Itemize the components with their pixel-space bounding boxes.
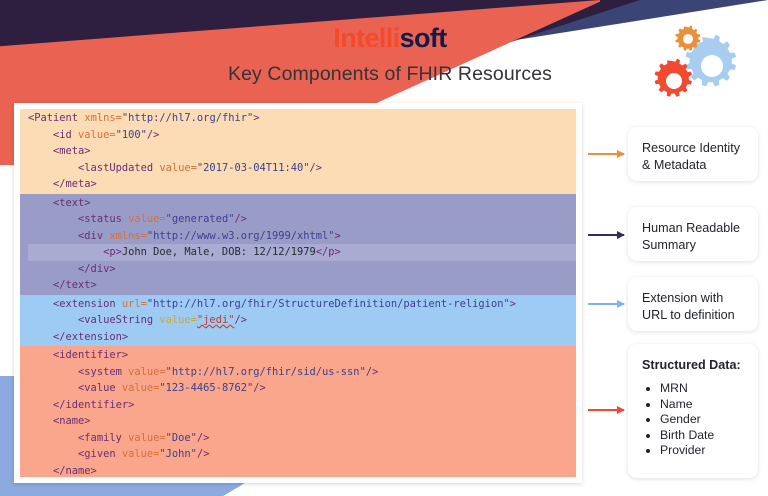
gear-medium-icon (655, 59, 692, 97)
code-line: <lastUpdated value="2017-03-04T11:40"/> (28, 160, 576, 177)
code-line: </div> (28, 261, 576, 278)
arrow-to-resource-identity (588, 153, 624, 155)
code-line: <extension url="http://hl7.org/fhir/Stru… (28, 296, 576, 313)
callout-resource-identity[interactable]: Resource Identity & Metadata (628, 127, 758, 181)
code-line: <status value="generated"/> (28, 211, 576, 228)
page-title: Key Components of FHIR Resources (190, 63, 590, 86)
code-line: <system value="http://hl7.org/fhir/sid/u… (28, 364, 576, 381)
code-line: <given value="John"/> (28, 446, 576, 463)
code-line: <id value="100"/> (28, 127, 576, 144)
gear-small-icon (675, 25, 700, 50)
arrow-to-structured-data (588, 409, 624, 411)
list-item: Provider (660, 443, 744, 459)
code-line: </text> (28, 277, 576, 294)
callout-human-readable[interactable]: Human Readable Summary (628, 207, 758, 261)
callout-structured-data-title: Structured Data: (642, 357, 744, 374)
code-band-metadata: <Patient xmlns="http://hl7.org/fhir"> <i… (20, 109, 576, 194)
code-band-structured: <identifier> <system value="http://hl7.o… (20, 346, 576, 477)
code-line: <identifier> (28, 347, 576, 364)
code-line: <valueString value="jedi"/> (28, 312, 576, 329)
fhir-xml-code-card: <Patient xmlns="http://hl7.org/fhir"> <i… (14, 103, 582, 483)
callout-extension-label: Extension with URL to definition (642, 290, 744, 324)
callout-human-readable-label: Human Readable Summary (642, 220, 744, 254)
code-line: <div xmlns="http://www.w3.org/1999/xhtml… (28, 228, 576, 245)
header: Intellisoft Key Components of FHIR Resou… (190, 24, 590, 86)
code-line: </name> (28, 463, 576, 478)
brand-logo: Intellisoft (190, 24, 590, 52)
callout-extension[interactable]: Extension with URL to definition (628, 277, 758, 331)
code-line: <text> (28, 195, 576, 212)
code-line: <name> (28, 413, 576, 430)
code-inner: <Patient xmlns="http://hl7.org/fhir"> <i… (20, 109, 576, 477)
brand-logo-part2: soft (400, 23, 447, 53)
code-line: <Patient xmlns="http://hl7.org/fhir"> (28, 110, 576, 127)
code-band-text: <text> <status value="generated"/> <div … (20, 194, 576, 295)
slide-canvas: Intellisoft Key Components of FHIR Resou… (0, 0, 768, 496)
structured-data-list: MRN Name Gender Birth Date Provider (642, 381, 744, 459)
list-item: Birth Date (660, 428, 744, 444)
code-band-extension: <extension url="http://hl7.org/fhir/Stru… (20, 295, 576, 347)
arrow-to-human-readable (588, 234, 624, 236)
arrow-to-extension (588, 303, 624, 305)
list-item: Gender (660, 412, 744, 428)
gears-icon (648, 24, 748, 102)
gears-illustration (648, 24, 748, 102)
callout-resource-identity-label: Resource Identity & Metadata (642, 140, 744, 174)
code-line-highlighted: <p>John Doe, Male, DOB: 12/12/1979</p> (28, 244, 576, 261)
list-item: Name (660, 397, 744, 413)
code-line: </extension> (28, 329, 576, 346)
brand-logo-part1: Intelli (333, 23, 399, 53)
code-line: <value value="123-4465-8762"/> (28, 380, 576, 397)
callout-structured-data[interactable]: Structured Data: MRN Name Gender Birth D… (628, 344, 758, 478)
code-line: </identifier> (28, 397, 576, 414)
list-item: MRN (660, 381, 744, 397)
code-line: <meta> (28, 143, 576, 160)
code-line: </meta> (28, 176, 576, 193)
code-line: <family value="Doe"/> (28, 430, 576, 447)
